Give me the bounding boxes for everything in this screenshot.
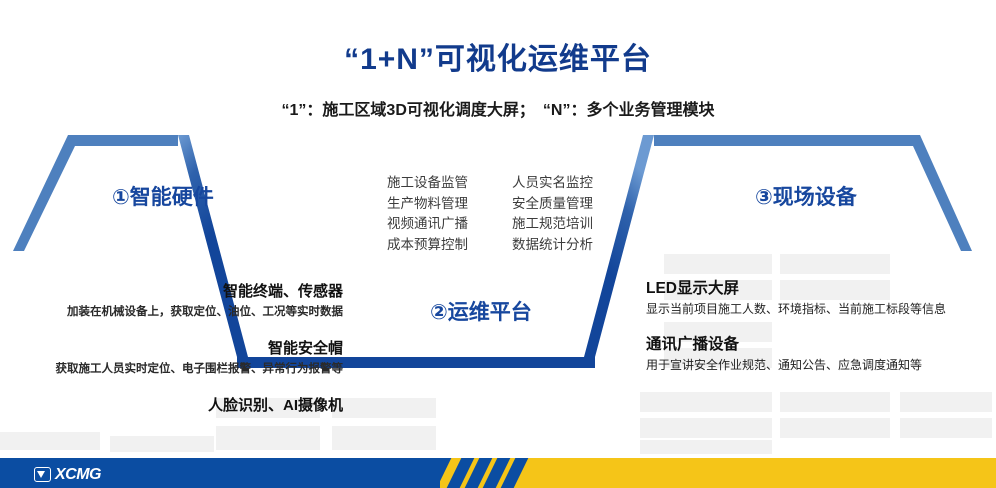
right-item: LED显示大屏 显示当前项目施工人数、环境指标、当前施工标段等信息 — [646, 278, 976, 318]
xcmg-shield-icon — [34, 467, 51, 482]
right-item-head: 通讯广播设备 — [646, 334, 976, 356]
left-item-desc: 获取施工人员实时定位、电子围栏报警、异常行为报警等 — [8, 361, 343, 378]
left-item-head: 智能终端、传感器 — [8, 281, 343, 303]
module-item: 成本预算控制 — [372, 236, 483, 255]
left-item-desc: 加装在机械设备上，获取定位、油位、工况等实时数据 — [8, 304, 343, 321]
module-item: 数据统计分析 — [497, 236, 608, 255]
module-item: 生产物料管理 — [372, 195, 483, 214]
footer-bar — [0, 458, 996, 488]
xcmg-logo-text: XCMG — [55, 467, 101, 483]
left-item: 智能安全帽 获取施工人员实时定位、电子围栏报警、异常行为报警等 — [8, 338, 343, 378]
left-detail-column: 智能终端、传感器 加装在机械设备上，获取定位、油位、工况等实时数据 智能安全帽 … — [8, 281, 343, 434]
slide-canvas: “1+N”可视化运维平台 “1”：施工区域3D可视化调度大屏； “N”：多个业务… — [0, 0, 996, 488]
left-item-head: 人脸识别、AI摄像机 — [8, 395, 343, 417]
right-item-desc: 显示当前项目施工人数、环境指标、当前施工标段等信息 — [646, 301, 976, 318]
xcmg-logo: XCMG — [34, 466, 101, 483]
subtitle: “1”：施工区域3D可视化调度大屏； “N”：多个业务管理模块 — [248, 98, 748, 124]
page-title: “1+N”可视化运维平台 — [0, 34, 996, 78]
footer-stripe-group — [440, 458, 540, 488]
module-item: 施工设备监管 — [372, 174, 483, 193]
module-item: 视频通讯广播 — [372, 215, 483, 234]
pillar-label-site-equipment: ③现场设备 — [755, 181, 857, 211]
footer-yellow-block — [466, 458, 996, 488]
left-item: 人脸识别、AI摄像机 — [8, 395, 343, 417]
right-item: 通讯广播设备 用于宣讲安全作业规范、通知公告、应急调度通知等 — [646, 334, 976, 374]
right-item-desc: 用于宣讲安全作业规范、通知公告、应急调度通知等 — [646, 357, 976, 374]
left-item-head: 智能安全帽 — [8, 338, 343, 360]
right-item-head: LED显示大屏 — [646, 278, 976, 300]
module-grid: 施工设备监管 人员实名监控 生产物料管理 安全质量管理 视频通讯广播 施工规范培… — [372, 174, 608, 254]
right-detail-column: LED显示大屏 显示当前项目施工人数、环境指标、当前施工标段等信息 通讯广播设备… — [646, 278, 976, 390]
pillar-label-ops-platform: ②运维平台 — [430, 296, 532, 326]
module-item: 安全质量管理 — [497, 195, 608, 214]
module-item: 人员实名监控 — [497, 174, 608, 193]
pillar-label-smart-hardware: ①智能硬件 — [112, 181, 214, 211]
left-item: 智能终端、传感器 加装在机械设备上，获取定位、油位、工况等实时数据 — [8, 281, 343, 321]
module-item: 施工规范培训 — [497, 215, 608, 234]
